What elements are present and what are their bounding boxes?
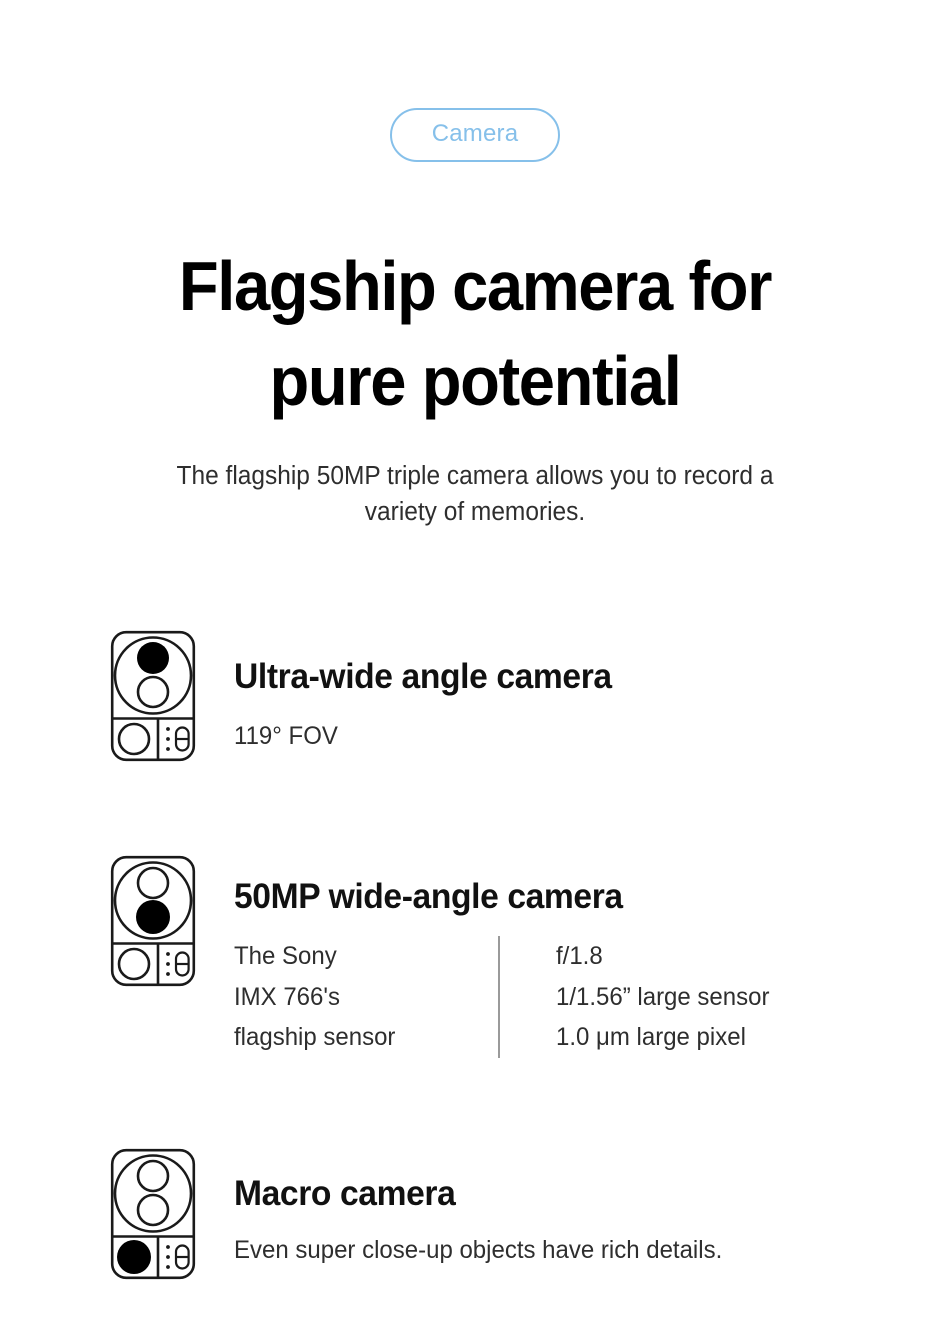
feature-body-wide: 50MP wide-angle camera The Sony IMX 766'… xyxy=(234,855,934,1058)
spec-column-sensor: The Sony IMX 766's flagship sensor xyxy=(234,936,487,1058)
feature-title-macro: Macro camera xyxy=(234,1174,906,1213)
feature-title-ultrawide: Ultra-wide angle camera xyxy=(234,657,906,696)
page-title: Flagship camera for pure potential xyxy=(75,239,875,429)
spec-column-optics: f/1.8 1/1.56” large sensor 1.0 μm large … xyxy=(556,936,769,1058)
feature-body-macro: Macro camera Even super close-up objects… xyxy=(234,1148,934,1268)
camera-module-icon-wide xyxy=(110,855,196,987)
feature-subtitle-ultrawide: 119° FOV xyxy=(234,718,906,754)
badge-container: Camera xyxy=(0,108,950,162)
feature-body-ultrawide: Ultra-wide angle camera 119° FOV xyxy=(234,630,934,754)
spec-divider xyxy=(498,936,500,1058)
spec-columns: The Sony IMX 766's flagship sensor f/1.8… xyxy=(234,936,934,1058)
camera-module-icon-macro xyxy=(110,1148,196,1280)
camera-module-icon-ultrawide xyxy=(110,630,196,762)
status-badge: Camera xyxy=(390,108,561,162)
feature-subtitle-macro: Even super close-up objects have rich de… xyxy=(234,1232,906,1268)
page-subtitle: The flagship 50MP triple camera allows y… xyxy=(91,458,859,531)
feature-title-wide: 50MP wide-angle camera xyxy=(234,877,906,916)
